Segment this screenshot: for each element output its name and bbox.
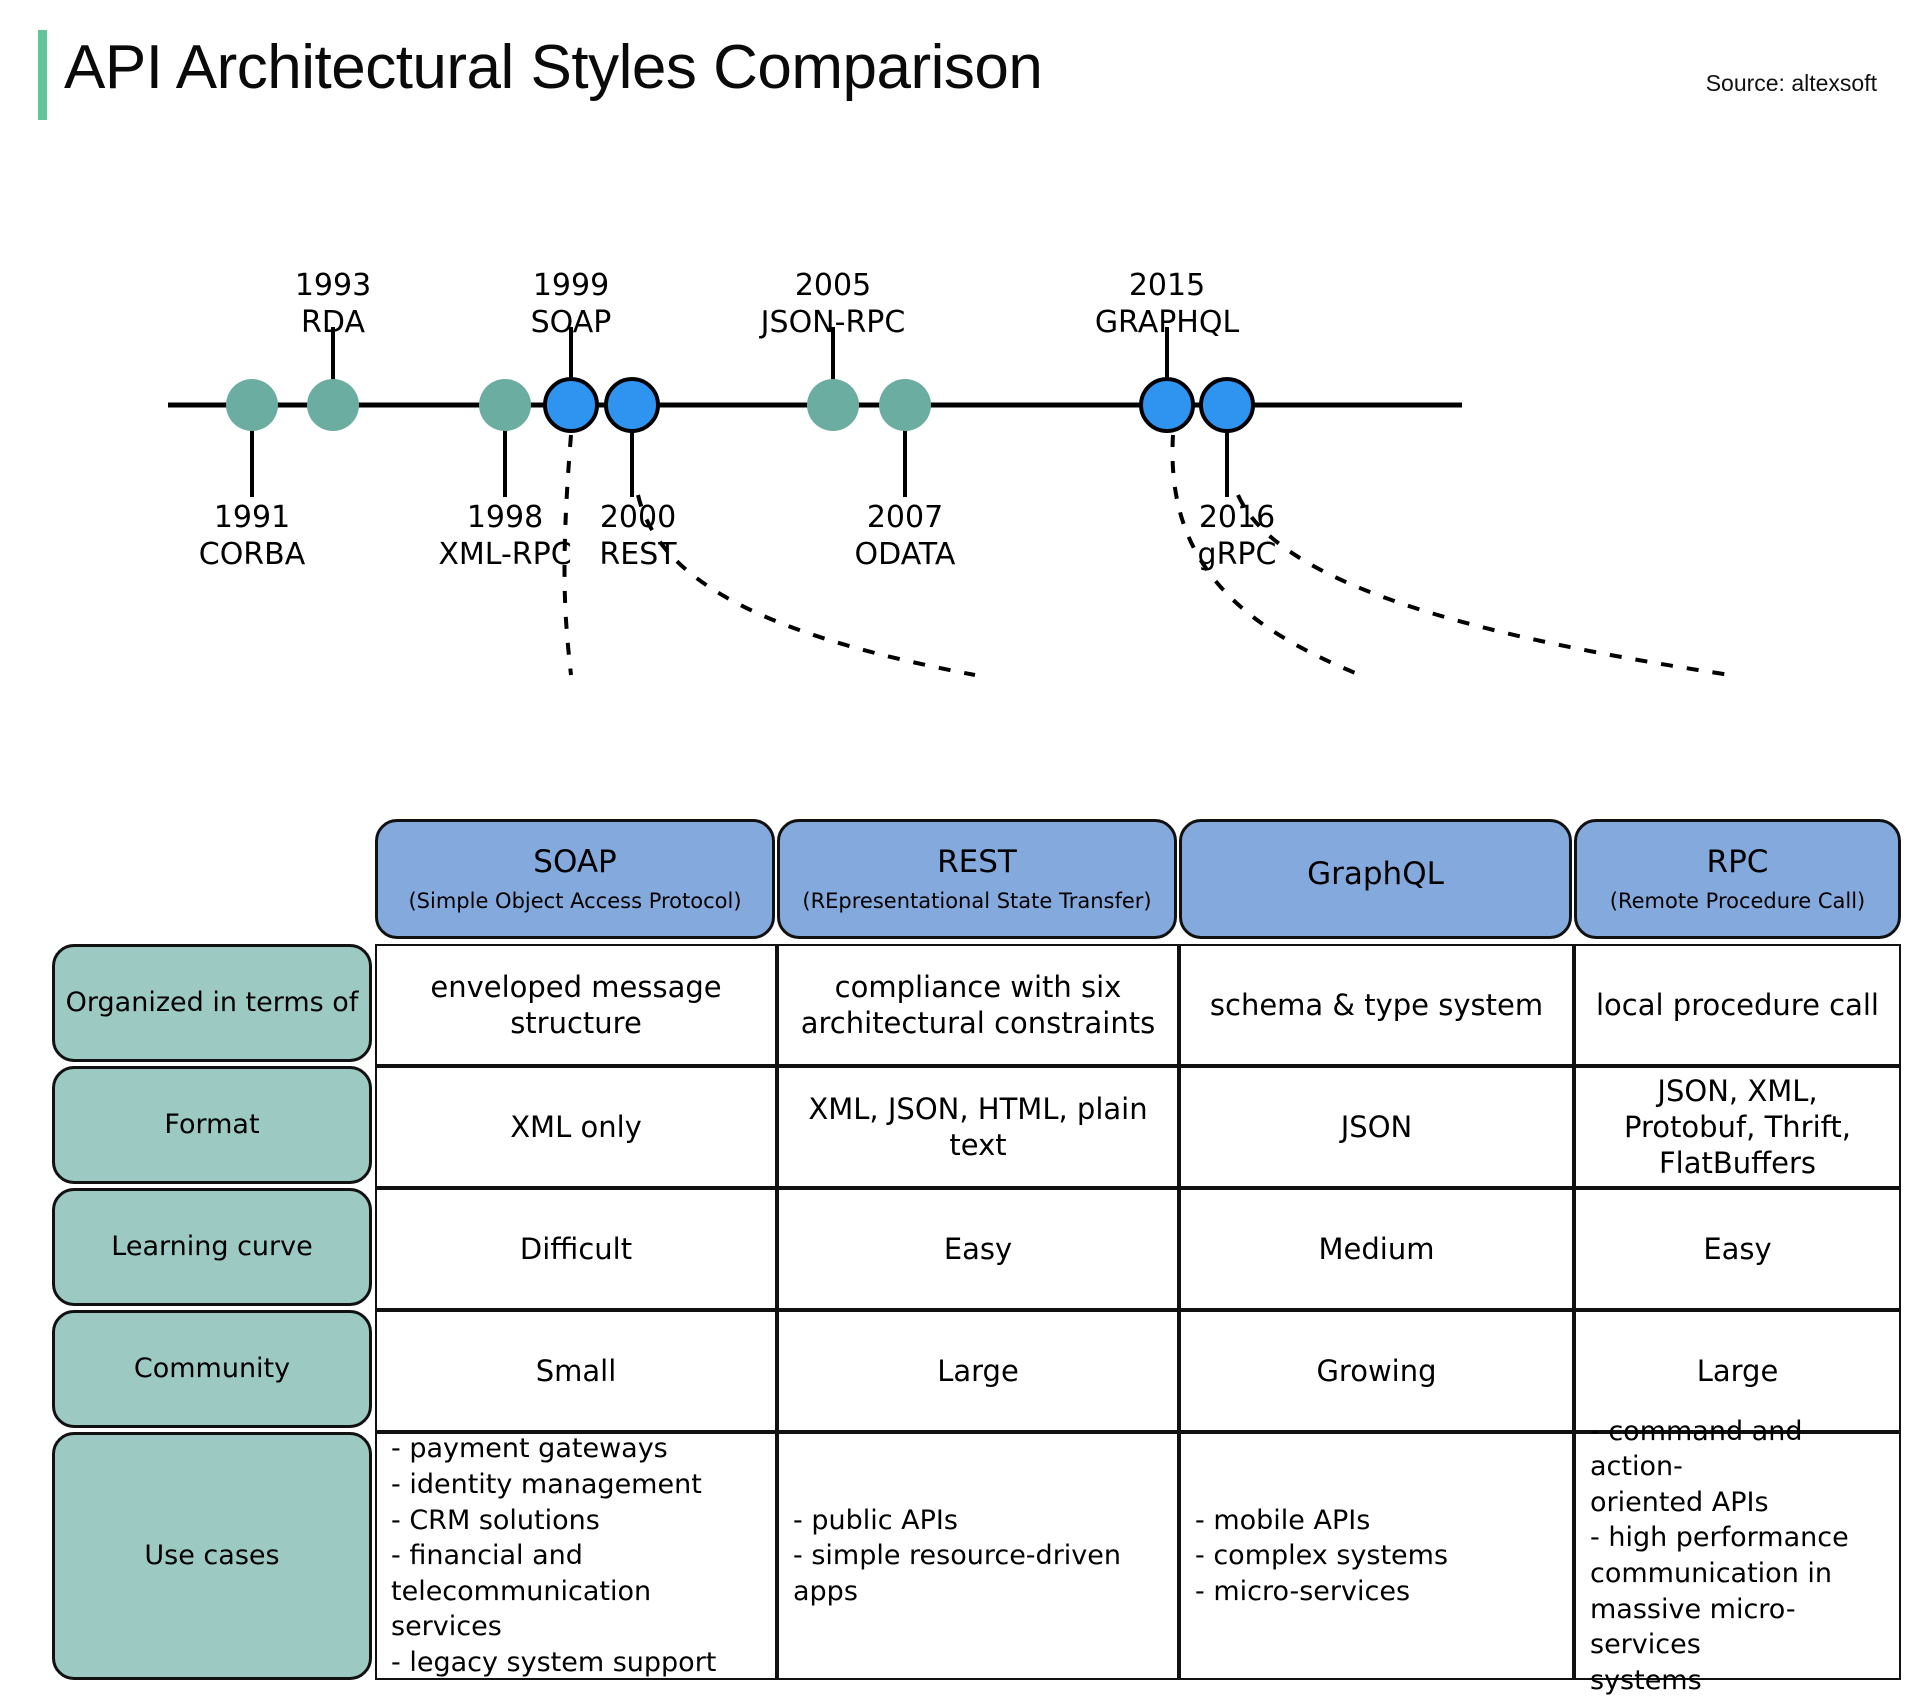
timeline-dot-1993: [307, 379, 359, 431]
timeline-year: 2005: [761, 268, 906, 305]
timeline-label-1999: 1999 SOAP: [531, 268, 612, 341]
timeline: 1993 RDA 1999 SOAP 2005 JSON-RPC 2015 GR…: [0, 290, 1932, 710]
timeline-name: GRAPHQL: [1095, 305, 1239, 342]
table-header-soap: SOAP (Simple Object Access Protocol): [375, 819, 775, 939]
table-cell: JSON, XML, Protobuf, Thrift, FlatBuffers: [1574, 1066, 1901, 1188]
timeline-name: RDA: [295, 305, 371, 342]
title-accent-bar: [38, 30, 47, 120]
table-cell: - payment gateways - identity management…: [375, 1432, 777, 1680]
timeline-name: SOAP: [531, 305, 612, 342]
timeline-label-1993: 1993 RDA: [295, 268, 371, 341]
timeline-year: 1998: [438, 500, 571, 537]
timeline-year: 1999: [531, 268, 612, 305]
timeline-year: 2016: [1198, 500, 1277, 537]
timeline-year: 1991: [199, 500, 306, 537]
timeline-dot-2015: [1141, 379, 1193, 431]
table-cell: XML, JSON, HTML, plain text: [777, 1066, 1179, 1188]
table-cell: - command and action- oriented APIs - hi…: [1574, 1432, 1901, 1680]
table-cell: Small: [375, 1310, 777, 1432]
table-cell: JSON: [1179, 1066, 1574, 1188]
timeline-year: 2015: [1095, 268, 1239, 305]
column-subtitle: (Remote Procedure Call): [1610, 889, 1865, 914]
timeline-label-1991: 1991 CORBA: [199, 500, 306, 573]
row-label-use-cases: Use cases: [52, 1432, 372, 1680]
row-label-format: Format: [52, 1066, 372, 1184]
timeline-name: JSON-RPC: [761, 305, 906, 342]
api-comparison-infographic: API Architectural Styles Comparison Sour…: [0, 0, 1932, 1702]
table-cell: - mobile APIs - complex systems - micro-…: [1179, 1432, 1574, 1680]
timeline-name: gRPC: [1198, 537, 1277, 574]
table-cell: schema & type system: [1179, 944, 1574, 1066]
row-label-learning-curve: Learning curve: [52, 1188, 372, 1306]
table-cell: Growing: [1179, 1310, 1574, 1432]
timeline-name: CORBA: [199, 537, 306, 574]
timeline-name: XML-RPC: [438, 537, 571, 574]
table-cell: XML only: [375, 1066, 777, 1188]
row-label-community: Community: [52, 1310, 372, 1428]
table-header-graphql: GraphQL: [1179, 819, 1572, 939]
timeline-dot-1999: [545, 379, 597, 431]
table-cell: local procedure call: [1574, 944, 1901, 1066]
column-subtitle: (REpresentational State Transfer): [802, 889, 1151, 914]
timeline-label-2015: 2015 GRAPHQL: [1095, 268, 1239, 341]
table-cell: Medium: [1179, 1188, 1574, 1310]
timeline-label-2007: 2007 ODATA: [855, 500, 956, 573]
timeline-dot-2007: [879, 379, 931, 431]
table-cell: compliance with six architectural constr…: [777, 944, 1179, 1066]
row-label-organized-in-terms-of: Organized in terms of: [52, 944, 372, 1062]
column-name: GraphQL: [1307, 856, 1444, 893]
column-subtitle: (Simple Object Access Protocol): [408, 889, 741, 914]
timeline-name: REST: [599, 537, 676, 574]
source-label: Source: altexsoft: [1706, 70, 1877, 97]
timeline-dot-1991: [226, 379, 278, 431]
column-name: SOAP: [533, 844, 616, 881]
timeline-name: ODATA: [855, 537, 956, 574]
timeline-dot-2005: [807, 379, 859, 431]
timeline-year: 1993: [295, 268, 371, 305]
table-cell: enveloped message structure: [375, 944, 777, 1066]
timeline-dot-2000: [606, 379, 658, 431]
column-name: REST: [937, 844, 1017, 881]
timeline-year: 2000: [599, 500, 676, 537]
table-cell: Difficult: [375, 1188, 777, 1310]
column-name: RPC: [1707, 844, 1769, 881]
table-cell: - public APIs - simple resource-driven a…: [777, 1432, 1179, 1680]
table-cell: Large: [777, 1310, 1179, 1432]
table-header-rpc: RPC (Remote Procedure Call): [1574, 819, 1901, 939]
timeline-year: 2007: [855, 500, 956, 537]
timeline-label-2016: 2016 gRPC: [1198, 500, 1277, 573]
table-header-rest: REST (REpresentational State Transfer): [777, 819, 1177, 939]
timeline-label-1998: 1998 XML-RPC: [438, 500, 571, 573]
comparison-table: SOAP (Simple Object Access Protocol) RES…: [0, 0, 1932, 1702]
page-title: API Architectural Styles Comparison: [64, 32, 1042, 103]
timeline-label-2000: 2000 REST: [599, 500, 676, 573]
connector-grpc: [1238, 495, 1730, 675]
timeline-label-2005: 2005 JSON-RPC: [761, 268, 906, 341]
table-cell: Easy: [1574, 1188, 1901, 1310]
timeline-dot-1998: [479, 379, 531, 431]
header: API Architectural Styles Comparison Sour…: [0, 0, 1932, 150]
table-cell: Easy: [777, 1188, 1179, 1310]
timeline-dot-2016: [1201, 379, 1253, 431]
